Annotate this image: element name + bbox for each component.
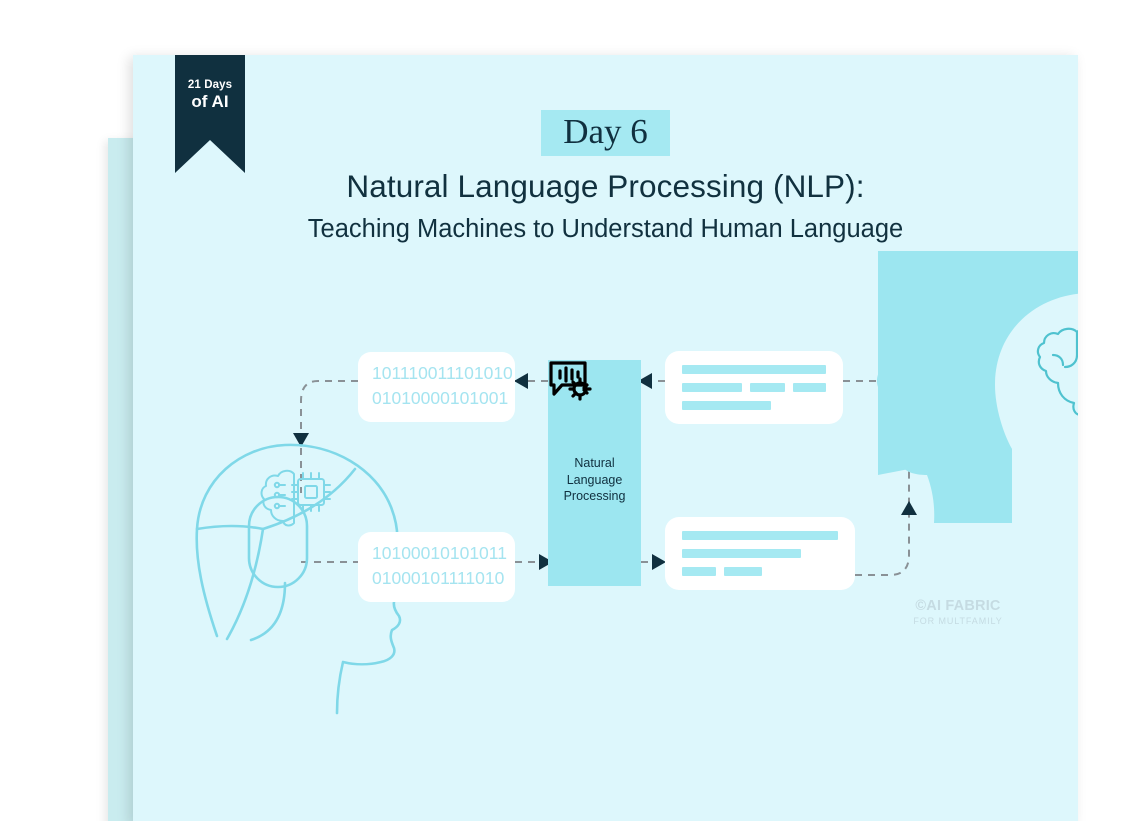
binary-bottom-line-1: 10100010101011 [372,541,501,566]
arrow-right-card-bottom [652,554,666,570]
watermark: ©AI FABRIC FOR MULTFAMILY [903,598,1013,626]
screenshot-canvas: 21 Days of AI Day 6 Natural Language Pro… [0,0,1140,821]
human-head-silhouette [877,251,1078,523]
nlp-center-block: Natural Language Processing [548,360,641,586]
text-bar [682,365,826,374]
binary-chip-top: 101110011101010 01010000101001 [358,352,515,422]
arrow-up-human [901,501,917,515]
text-bar [682,401,771,410]
text-bar [724,567,761,576]
text-bar [682,567,716,576]
text-card-top-row-3 [682,401,826,410]
nlp-label-line-1: Natural [564,455,626,472]
text-card-bottom [665,517,855,590]
text-bar [750,383,785,392]
nlp-flow-diagram: 101110011101010 01010000101001 101000101… [133,55,1078,821]
binary-bottom-line-2: 01000101111010 [372,566,501,591]
binary-top-line-1: 101110011101010 [372,361,501,386]
text-card-top-row-1 [682,365,826,374]
nlp-block-label: Natural Language Processing [564,455,626,505]
watermark-line-1: ©AI FABRIC [903,598,1013,614]
text-card-top [665,351,843,424]
binary-chip-bottom: 10100010101011 01000101111010 [358,532,515,602]
brain-icon [1038,329,1078,415]
text-card-bottom-row-2 [682,549,838,558]
text-card-bottom-row-3 [682,567,838,576]
text-bar [682,549,801,558]
connector-card-to-human [855,460,909,575]
watermark-line-2: FOR MULTFAMILY [903,616,1013,626]
text-bar [793,383,826,392]
text-card-top-row-2 [682,383,826,392]
text-card-bottom-row-1 [682,531,838,540]
text-bar [682,383,742,392]
arrow-left-binary-top [514,373,528,389]
binary-top-line-2: 01010000101001 [372,386,501,411]
slide-sheet: 21 Days of AI Day 6 Natural Language Pro… [133,55,1078,821]
text-bar [682,531,838,540]
nlp-label-line-3: Processing [564,488,626,505]
nlp-label-line-2: Language [564,472,626,489]
